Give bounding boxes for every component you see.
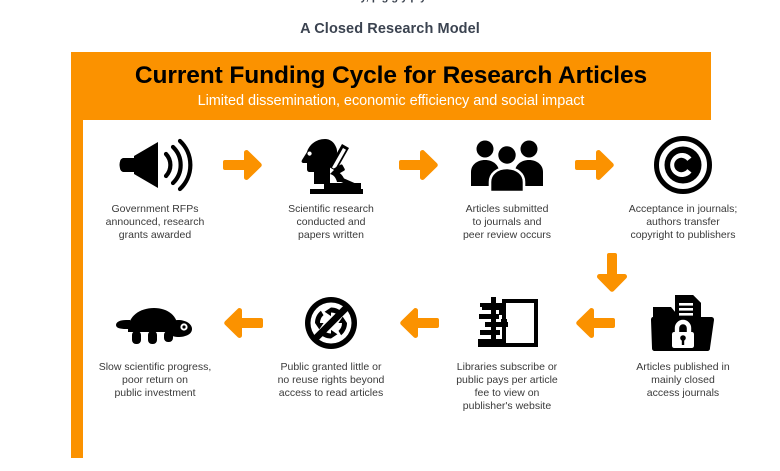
flow-step-caption: Libraries subscribe or public pays per a… [456,361,558,413]
page-title: A Closed Research Model [0,21,780,37]
flow-step-caption: Articles submitted to journals and peer … [463,203,551,242]
flow-step-slow-progress: Slow scientific progress, poor return on… [95,292,215,400]
arrow-left-icon [215,292,271,354]
arrow-right-icon [567,134,623,196]
no-reuse-icon [302,292,360,354]
flow-step-paywall: Libraries subscribe or public pays per a… [447,292,567,413]
flow-row-bottom: Slow scientific progress, poor return on… [95,292,743,413]
flow-row-top: Government RFPs announced, research gran… [95,134,743,242]
banner: Current Funding Cycle for Research Artic… [71,52,711,120]
turtle-icon [116,292,194,354]
flow-step-caption: Public granted little or no reuse rights… [278,361,385,400]
arrow-left-icon [391,292,447,354]
cropped-top-text: by, p g g y p y [0,0,780,3]
flow-step-closed-access: Articles published in mainly closed acce… [623,292,743,400]
flow-step-copyright: Acceptance in journals; authors transfer… [623,134,743,242]
flow-step-caption: Acceptance in journals; authors transfer… [629,203,738,242]
copyright-icon [654,134,712,196]
microscope-researcher-icon [298,134,364,196]
arrow-left-icon [567,292,623,354]
flow-step-no-reuse: Public granted little or no reuse rights… [271,292,391,400]
arrow-right-icon [215,134,271,196]
flow-step-caption: Government RFPs announced, research gran… [106,203,205,242]
arrow-right-icon [391,134,447,196]
megaphone-icon [120,134,190,196]
banner-subtitle: Limited dissemination, economic efficien… [198,93,585,109]
paywall-dollar-icon [476,292,538,354]
arrow-down-icon [592,252,632,294]
flow-step-submission: Articles submitted to journals and peer … [447,134,567,242]
locked-folder-icon [651,292,715,354]
flow-step-caption: Articles published in mainly closed acce… [636,361,729,400]
banner-title: Current Funding Cycle for Research Artic… [135,63,647,90]
flow-step-funding: Government RFPs announced, research gran… [95,134,215,242]
infographic-page: by, p g g y p y A Closed Research Model … [0,0,780,471]
people-group-icon [471,134,543,196]
flow-step-caption: Scientific research conducted and papers… [288,203,374,242]
flow-step-caption: Slow scientific progress, poor return on… [99,361,212,400]
flow-step-research: Scientific research conducted and papers… [271,134,391,242]
